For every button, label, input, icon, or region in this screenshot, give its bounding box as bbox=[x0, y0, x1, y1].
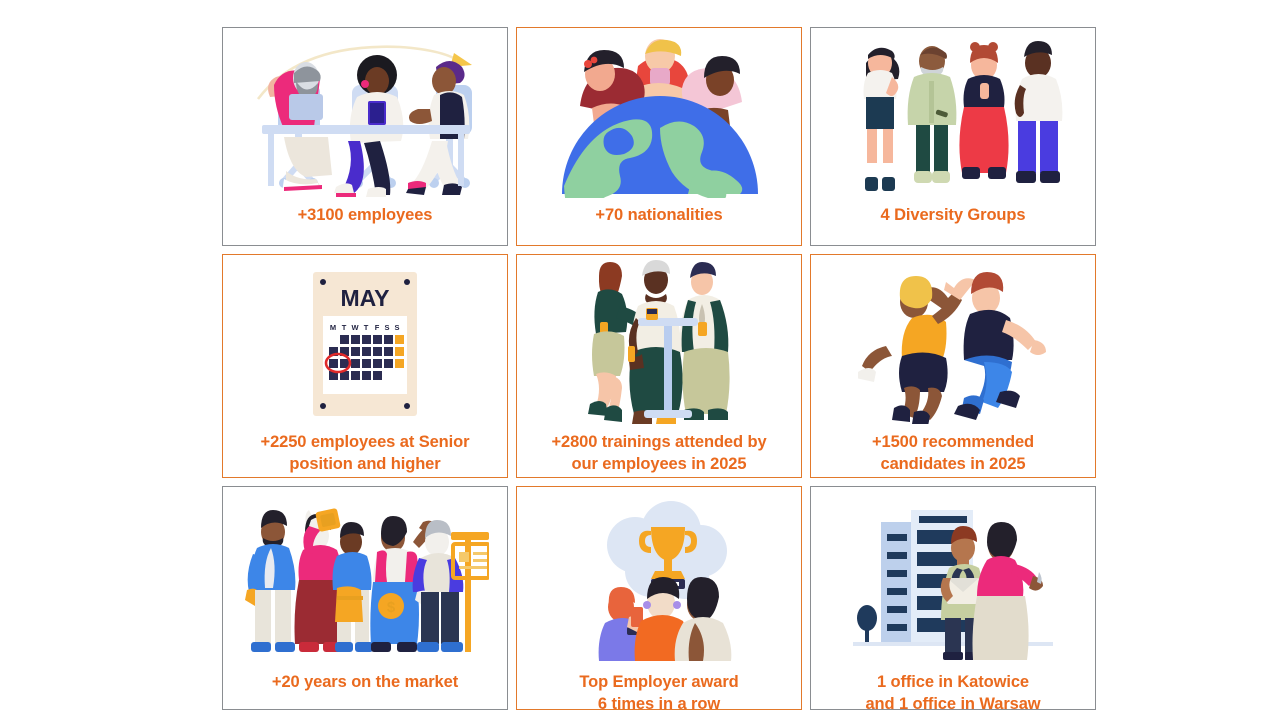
group-of-people-with-sign-illustration: $ bbox=[229, 495, 501, 665]
stat-card-diversity-groups[interactable]: 4 Diversity Groups bbox=[810, 27, 1096, 246]
four-diverse-people-standing-illustration bbox=[817, 36, 1089, 198]
stat-caption: Top Employer award 6 times in a row bbox=[523, 671, 795, 710]
three-people-at-standing-table-illustration bbox=[523, 263, 795, 425]
svg-text:T: T bbox=[364, 323, 369, 332]
trophy-thought-bubble-illustration bbox=[523, 495, 795, 665]
stat-caption: 1 office in Katowice and 1 office in War… bbox=[817, 671, 1089, 710]
stat-caption: +20 years on the market bbox=[229, 671, 501, 693]
stat-card-trainings[interactable]: +2800 trainings attended by our employee… bbox=[516, 254, 802, 478]
svg-text:T: T bbox=[342, 323, 347, 332]
stats-card-grid: +3100 employees bbox=[222, 27, 1106, 710]
stat-card-employees[interactable]: +3100 employees bbox=[222, 27, 508, 246]
coworkers-at-desk-illustration bbox=[229, 36, 501, 198]
stat-card-nationalities[interactable]: +70 nationalities bbox=[516, 27, 802, 246]
stat-card-recommended-candidates[interactable]: +1500 recommended candidates in 2025 bbox=[810, 254, 1096, 478]
svg-text:MAY: MAY bbox=[341, 285, 390, 311]
svg-text:W: W bbox=[351, 323, 359, 332]
svg-text:F: F bbox=[375, 323, 380, 332]
people-hugging-globe-illustration bbox=[523, 36, 795, 198]
stat-card-years-on-market[interactable]: $ bbox=[222, 486, 508, 710]
svg-text:$: $ bbox=[387, 599, 396, 616]
svg-text:S: S bbox=[384, 323, 389, 332]
stat-caption: +2800 trainings attended by our employee… bbox=[523, 431, 795, 475]
stat-card-senior-position[interactable]: MAY MTW TFSS bbox=[222, 254, 508, 478]
office-building-with-couple-illustration bbox=[817, 495, 1089, 665]
svg-text:S: S bbox=[394, 323, 399, 332]
stat-card-top-employer[interactable]: Top Employer award 6 times in a row bbox=[516, 486, 802, 710]
stat-caption: 4 Diversity Groups bbox=[817, 204, 1089, 226]
may-calendar-illustration: MAY MTW TFSS bbox=[229, 263, 501, 425]
stat-caption: +2250 employees at Senior position and h… bbox=[229, 431, 501, 475]
stat-caption: +3100 employees bbox=[229, 204, 501, 226]
svg-text:M: M bbox=[330, 323, 336, 332]
stat-card-offices[interactable]: 1 office in Katowice and 1 office in War… bbox=[810, 486, 1096, 710]
stat-caption: +1500 recommended candidates in 2025 bbox=[817, 431, 1089, 475]
stat-caption: +70 nationalities bbox=[523, 204, 795, 226]
two-people-high-five-jumping-illustration bbox=[817, 263, 1089, 425]
